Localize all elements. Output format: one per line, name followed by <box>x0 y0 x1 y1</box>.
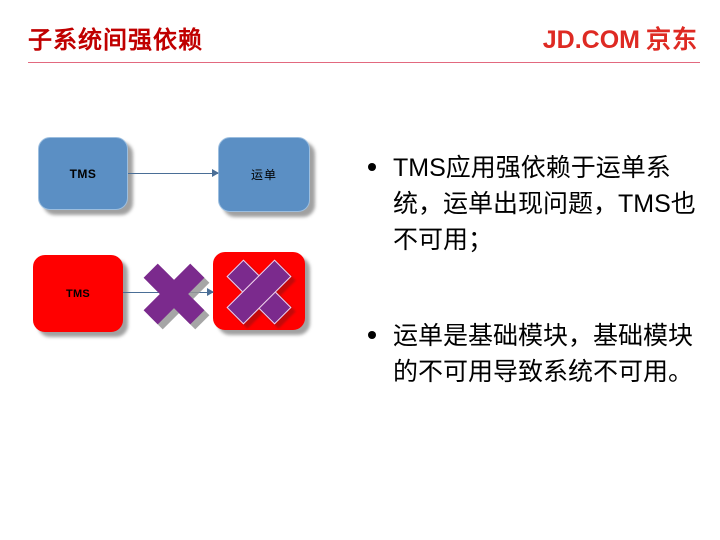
dependency-diagram: TMS 运单 TMS <box>0 0 345 540</box>
jd-brand-logo: JD.COM京东 <box>543 20 698 56</box>
bullet-dot-icon <box>368 163 376 171</box>
bullet-list: TMS应用强依赖于运单系统，运单出现问题，TMS也不可用； 运单是基础模块，基础… <box>360 150 700 390</box>
bullet-text: 运单是基础模块，基础模块的不可用导致系统不可用。 <box>393 322 693 386</box>
node-tms-failed[interactable]: TMS <box>33 255 123 332</box>
node-label: TMS <box>66 288 90 300</box>
connector-arrow-bottom <box>123 288 213 298</box>
arrow-head-icon <box>207 288 214 296</box>
connector-line <box>123 292 213 293</box>
node-label: TMS <box>70 167 97 181</box>
node-waybill-failed[interactable] <box>213 252 305 330</box>
node-tms-normal[interactable]: TMS <box>38 137 128 210</box>
brand-chinese: 京东 <box>646 26 698 54</box>
node-label: 运单 <box>251 166 277 183</box>
list-item: TMS应用强依赖于运单系统，运单出现问题，TMS也不可用； <box>360 150 700 258</box>
node-waybill-normal[interactable]: 运单 <box>218 137 310 212</box>
list-item: 运单是基础模块，基础模块的不可用导致系统不可用。 <box>360 318 700 390</box>
bullet-text: TMS应用强依赖于运单系统，运单出现问题，TMS也不可用； <box>393 154 696 254</box>
connector-line <box>128 173 218 174</box>
brand-latin: JD.COM <box>543 26 640 54</box>
connector-arrow-top <box>128 169 218 179</box>
arrow-head-icon <box>212 169 219 177</box>
bullet-dot-icon <box>368 331 376 339</box>
